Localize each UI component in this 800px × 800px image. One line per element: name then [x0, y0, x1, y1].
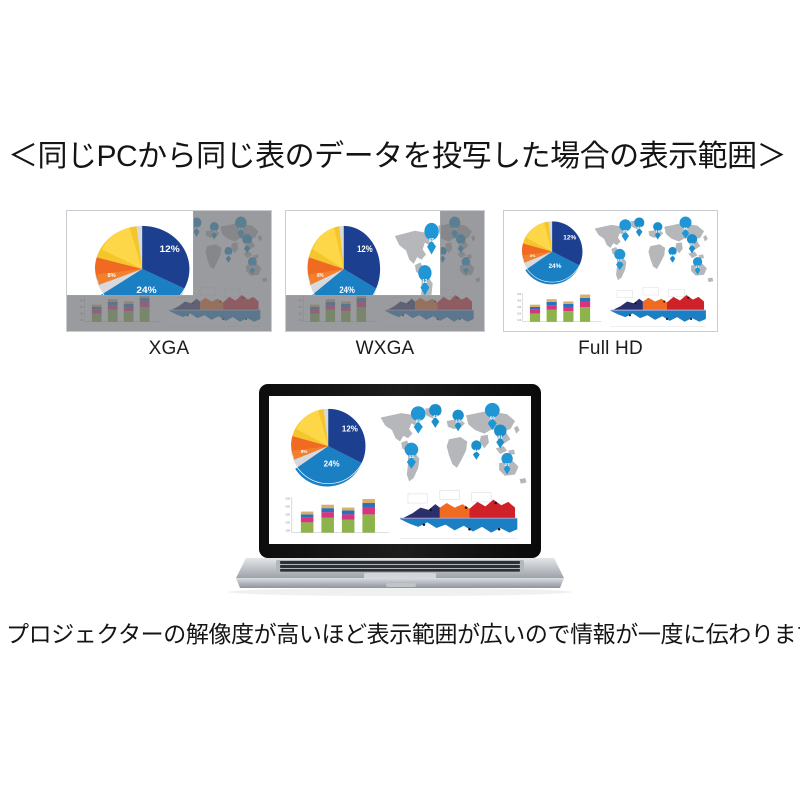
panel-label-fullhd: Full HD — [503, 338, 718, 360]
laptop-illustration — [228, 378, 572, 604]
resolution-comparison-row: XGA WXGA — [0, 210, 800, 375]
panel-label-wxga: WXGA — [285, 338, 485, 360]
visible-region-xga — [67, 211, 193, 295]
projection-frame-xga — [66, 210, 272, 332]
projection-frame-wxga — [285, 210, 485, 332]
visible-region-wxga — [286, 211, 440, 295]
dashboard-full-fullhd — [504, 211, 717, 331]
slide-canvas: 12% 24% 8% — [0, 0, 800, 800]
resolution-panel-fullhd[interactable]: Full HD — [503, 210, 718, 332]
laptop-screen-content — [269, 396, 531, 544]
panel-label-xga: XGA — [66, 338, 272, 360]
resolution-panel-xga[interactable]: XGA — [66, 210, 272, 332]
projection-frame-fullhd — [503, 210, 718, 332]
page-footnote: プロジェクターの解像度が高いほど表示範囲が広いので情報が一度に伝わります。 — [6, 622, 796, 647]
page-title: ＜同じPCから同じ表のデータを投写した場合の表示範囲＞ — [8, 140, 792, 173]
resolution-panel-wxga[interactable]: WXGA — [285, 210, 485, 332]
